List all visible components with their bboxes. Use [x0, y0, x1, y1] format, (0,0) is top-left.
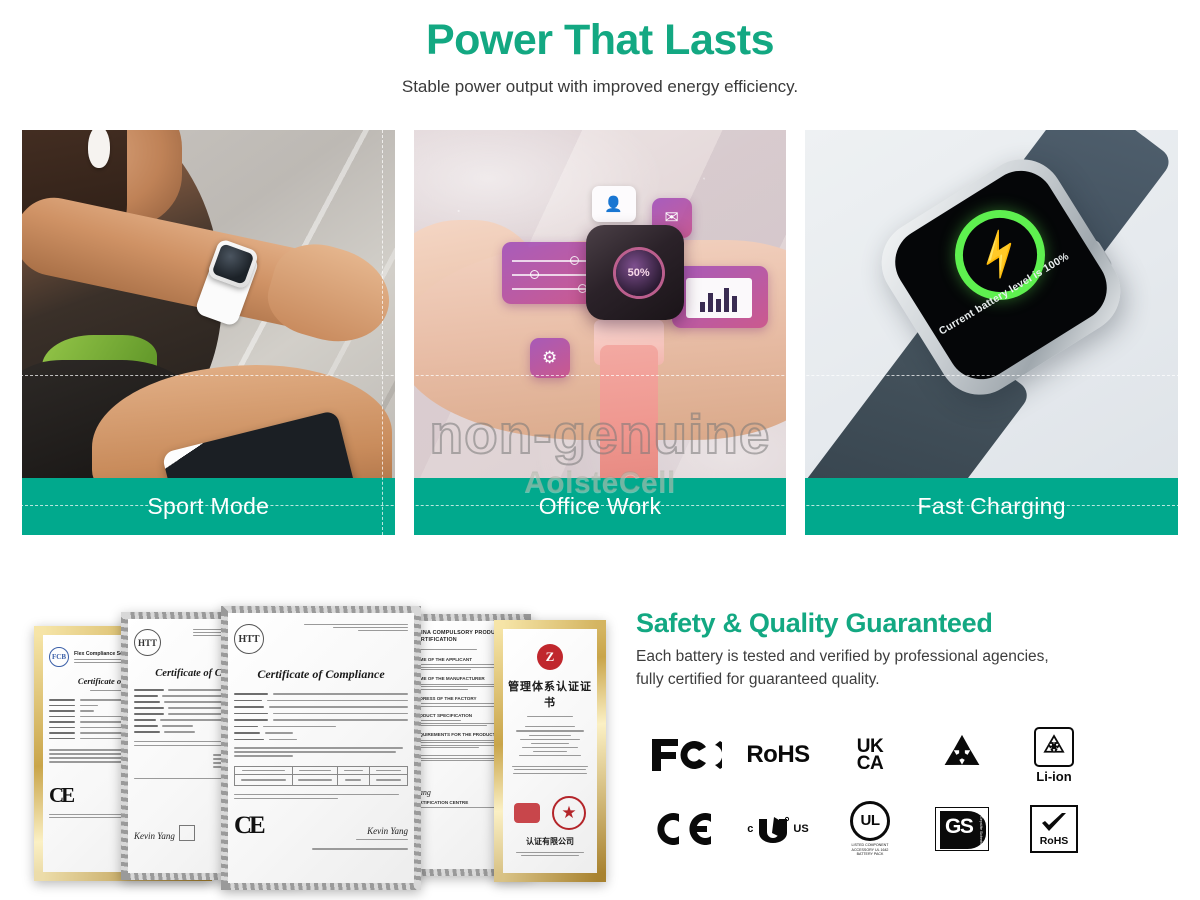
rohs-check-badge: RoHS	[1008, 796, 1100, 862]
li-ion-recycle-badge: Li-ion	[1008, 722, 1100, 788]
htt-logo-icon: HTT	[134, 629, 161, 656]
safety-description-line1: Each battery is tested and verified by p…	[636, 648, 1049, 665]
contact-card: 👤	[592, 186, 636, 222]
watch-face-percentage: 50%	[616, 250, 662, 296]
feature-card-office-work[interactable]: ✉ ⚙ 👤 50% Office Work	[414, 130, 787, 535]
certificate-chinese-gold[interactable]: Z 管理体系认证证书	[494, 620, 606, 882]
ce-badge	[640, 796, 732, 862]
checkmark-icon	[1040, 812, 1068, 834]
feature-caption-fast-charging: Fast Charging	[805, 478, 1178, 535]
sport-mode-photo	[22, 130, 395, 535]
fcc-icon	[650, 735, 722, 775]
ul-listed-fineprint: LISTED COMPONENTACCESSORY UL 1642BATTERY…	[850, 843, 890, 858]
safety-title: Safety & Quality Guaranteed	[636, 608, 1176, 639]
rohs-check-label: RoHS	[1040, 835, 1069, 847]
gear-icon: ⚙	[530, 338, 570, 378]
fcb-logo-icon: FCB	[49, 647, 69, 667]
certificates-collage[interactable]: FCB Flex Compliance Services Certificate…	[16, 600, 616, 890]
office-work-photo: ✉ ⚙ 👤 50%	[414, 130, 787, 535]
rohs-badge: RoHS	[732, 722, 824, 788]
recycle-icon	[939, 733, 985, 777]
gs-fineprint: Geprüfte Sicherheit	[979, 816, 983, 847]
us-label: US	[793, 823, 808, 835]
feature-card-fast-charging[interactable]: ⚡ Current battery level is 100% Fast Cha…	[805, 130, 1178, 535]
ce-icon	[653, 808, 719, 850]
red-star-seal-icon: ★	[552, 796, 586, 830]
certification-badges: RoHS UK CA	[640, 718, 1140, 866]
page-subtitle: Stable power output with improved energy…	[0, 77, 1200, 97]
feature-caption-office-work: Office Work	[414, 478, 787, 535]
page-header: Power That Lasts Stable power output wit…	[0, 0, 1200, 97]
person-icon: 👤	[592, 186, 636, 222]
z-logo-icon: Z	[537, 644, 563, 670]
settings-sliders-card	[502, 242, 598, 304]
earbud-icon	[88, 130, 110, 168]
ukca-line2: CA	[857, 755, 883, 772]
safety-info-block: Safety & Quality Guaranteed Each battery…	[636, 608, 1176, 692]
signature: Kevin Yang	[134, 831, 175, 841]
ce-mark: CE	[49, 783, 72, 808]
c-ul-us-badge: c US	[732, 796, 824, 862]
marketing-page: Power That Lasts Stable power output wit…	[0, 0, 1200, 900]
recycle-badge	[916, 722, 1008, 788]
page-title: Power That Lasts	[0, 16, 1200, 65]
gs-badge: GS Geprüfte Sicherheit	[916, 796, 1008, 862]
ul-listed-badge: UL LISTED COMPONENTACCESSORY UL 1642BATT…	[824, 796, 916, 862]
c-label: c	[747, 823, 753, 835]
li-ion-label: Li-ion	[1034, 769, 1074, 784]
analytics-card	[672, 266, 768, 328]
safety-section: FCB Flex Compliance Services Certificate…	[0, 590, 1200, 900]
htt-logo-icon: HTT	[234, 624, 264, 654]
settings-icon-card: ⚙	[530, 338, 570, 378]
safety-description: Each battery is tested and verified by p…	[636, 645, 1176, 692]
rohs-label: RoHS	[746, 741, 809, 769]
badge-row-1: RoHS UK CA	[640, 718, 1140, 792]
red-logo-stamp	[514, 803, 540, 823]
ul-label: UL	[861, 812, 880, 829]
feature-card-list: Sport Mode	[22, 130, 1178, 535]
bar-chart-icon	[686, 278, 752, 318]
chinese-certificate-issuer: 认证有限公司	[508, 836, 592, 847]
chinese-certificate-title: 管理体系认证证书	[508, 678, 592, 710]
ul-recognized-icon	[756, 815, 790, 843]
certificate-htt-ce[interactable]: HTT Certificate of Compliance	[221, 606, 421, 890]
fast-charging-photo: ⚡ Current battery level is 100%	[805, 130, 1178, 535]
gs-label: GS	[945, 815, 972, 839]
safety-description-line2: fully certified for guaranteed quality.	[636, 671, 880, 688]
feature-card-sport-mode[interactable]: Sport Mode	[22, 130, 395, 535]
fcc-badge	[640, 722, 732, 788]
recycle-outline-icon	[1040, 733, 1068, 760]
badge-row-2: c US UL L	[640, 792, 1140, 866]
ce-mark: CE	[234, 812, 263, 840]
ukca-badge: UK CA	[824, 722, 916, 788]
certificate-title: Certificate of Compliance	[234, 667, 408, 682]
signature: Kevin Yang	[356, 826, 408, 836]
stamp-icon	[179, 825, 195, 841]
feature-caption-sport-mode: Sport Mode	[22, 478, 395, 535]
